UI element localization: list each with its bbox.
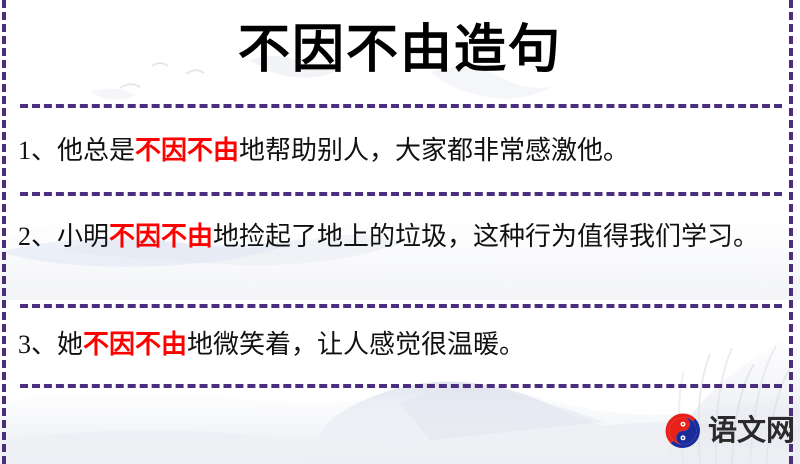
page-title: 不因不由造句 [0,18,800,84]
separator-1 [20,192,782,196]
site-logo[interactable]: 语文网 [664,410,795,452]
sentence-after-2: 地捡起了地上的垃圾，这种行为值得我们学习。 [213,222,759,251]
keyword-highlight-2: 不因不由 [109,222,213,251]
separator-top [20,104,782,108]
separator-2 [20,304,782,308]
sentence-index-2: 2、 [18,222,57,251]
sentence-before-2: 小明 [57,222,109,251]
sentence-index-1: 1、 [18,136,57,165]
sentence-item-3: 3、她不因不由地微笑着，让人感觉很温暖。 [18,322,774,368]
sentence-before-1: 他总是 [57,136,135,165]
separator-3 [20,384,782,388]
sentence-before-3: 她 [57,330,83,359]
poster-page: 不因不由造句 1、他总是不因不由地帮助别人，大家都非常感激他。 2、小明不因不由… [0,0,800,464]
keyword-highlight-1: 不因不由 [135,136,239,165]
page-border-right [789,0,793,464]
sentence-index-3: 3、 [18,330,57,359]
yinyang-circle-icon [664,412,702,450]
site-logo-text: 语文网 [708,415,795,447]
keyword-highlight-3: 不因不由 [83,330,187,359]
sentence-after-1: 地帮助别人，大家都非常感激他。 [239,136,629,165]
content-area: 不因不由造句 1、他总是不因不由地帮助别人，大家都非常感激他。 2、小明不因不由… [0,0,800,464]
page-border-left [2,0,6,464]
sentence-item-1: 1、他总是不因不由地帮助别人，大家都非常感激他。 [18,128,774,174]
sentence-after-3: 地微笑着，让人感觉很温暖。 [187,330,525,359]
sentence-item-2: 2、小明不因不由地捡起了地上的垃圾，这种行为值得我们学习。 [18,214,774,260]
